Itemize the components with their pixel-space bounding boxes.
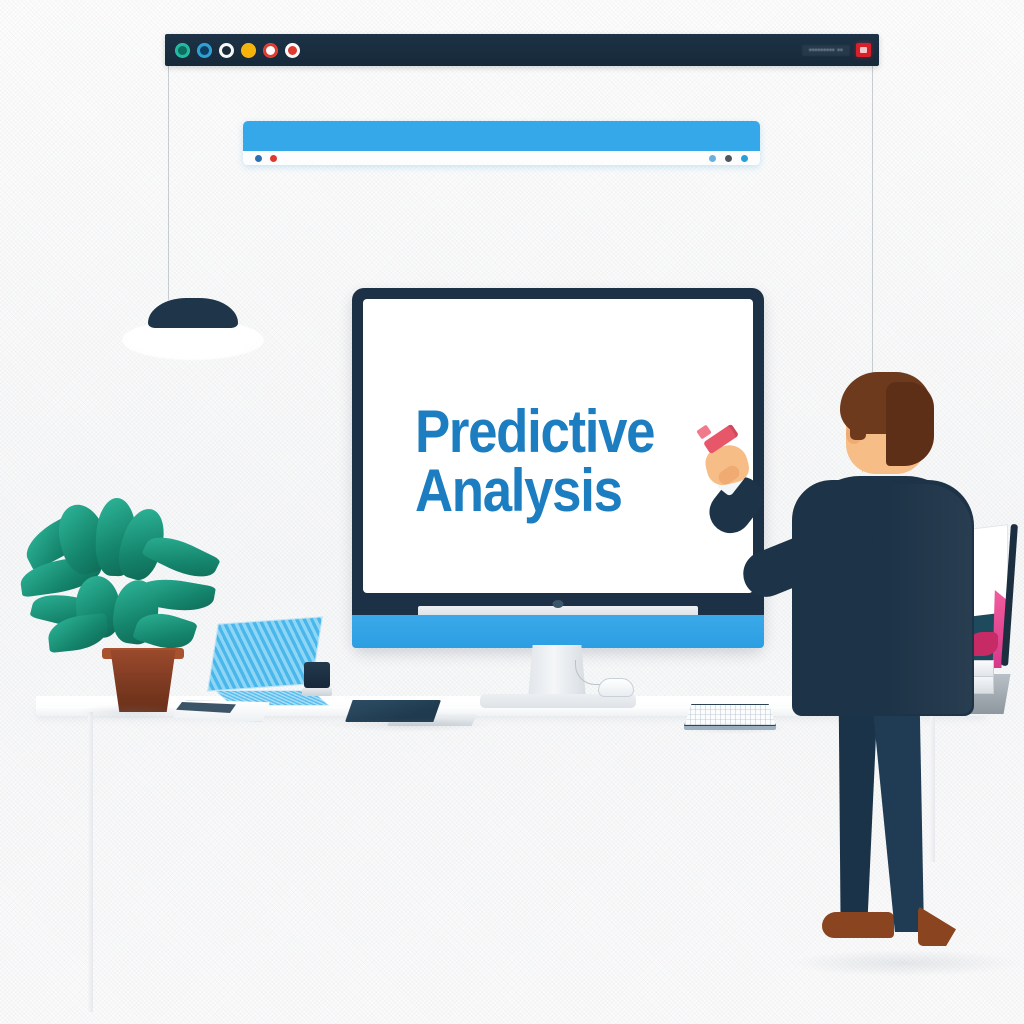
blue-panel-status-strip <box>243 151 760 165</box>
screen-heading-line1: Predictive <box>415 403 654 462</box>
app-icon-blue[interactable] <box>197 43 212 58</box>
dot-gray-icon[interactable] <box>725 155 732 162</box>
dot-red-icon[interactable] <box>270 155 277 162</box>
monitor-power-dot-icon <box>553 600 564 608</box>
lamp-cord-right <box>872 66 873 386</box>
app-icon-amber[interactable] <box>241 43 256 58</box>
shadow-person <box>790 950 1020 976</box>
shadow-laptop <box>330 718 490 732</box>
app-icon-rose[interactable] <box>285 43 300 58</box>
monitor-screen[interactable]: Predictive Analysis <box>363 299 753 593</box>
panel-left-dots <box>255 155 277 162</box>
person-jacket-highlight <box>888 484 972 714</box>
app-icon-teal[interactable] <box>175 43 190 58</box>
notification-badge-icon[interactable] <box>856 43 871 57</box>
computer-mouse[interactable] <box>598 678 634 697</box>
shadow-plant <box>78 704 188 720</box>
device-stand-base <box>302 688 332 696</box>
person-back-shoe <box>822 912 894 938</box>
dot-lightblue-icon[interactable] <box>709 155 716 162</box>
person-front-shoe <box>918 906 956 946</box>
lamp-cord-left <box>168 66 169 300</box>
toolbar-icon-group <box>175 43 300 58</box>
shadow-keyboard <box>678 722 788 734</box>
lamp-shade <box>148 298 238 328</box>
screen-heading: Predictive Analysis <box>415 403 654 521</box>
browser-toolbar[interactable]: ▪▪▪▪▪▪▪▪▪ ▪▪ <box>165 34 879 66</box>
dot-blue-icon[interactable] <box>741 155 748 162</box>
panel-right-dots <box>709 155 748 162</box>
pendant-lamp <box>122 298 264 360</box>
person-hair-back <box>886 382 934 466</box>
illustration-scene: ▪▪▪▪▪▪▪▪▪ ▪▪ <box>0 0 1024 1024</box>
app-icon-white[interactable] <box>219 43 234 58</box>
device-screen <box>304 662 330 688</box>
toolbar-blurred-label: ▪▪▪▪▪▪▪▪▪ ▪▪ <box>802 45 850 56</box>
person-front-leg <box>868 694 924 932</box>
small-device-stand[interactable] <box>302 662 332 706</box>
toolbar-right-group: ▪▪▪▪▪▪▪▪▪ ▪▪ <box>802 43 871 57</box>
blue-window-panel[interactable] <box>243 121 760 165</box>
dot-navy-icon[interactable] <box>255 155 262 162</box>
businessman-pointing <box>700 372 1024 1000</box>
screen-heading-line2: Analysis <box>415 462 654 521</box>
person-back-leg <box>830 692 878 922</box>
desk-leg-left <box>88 712 93 1012</box>
plant-pot <box>106 650 180 712</box>
potted-plant <box>18 498 228 718</box>
app-icon-red[interactable] <box>263 43 278 58</box>
